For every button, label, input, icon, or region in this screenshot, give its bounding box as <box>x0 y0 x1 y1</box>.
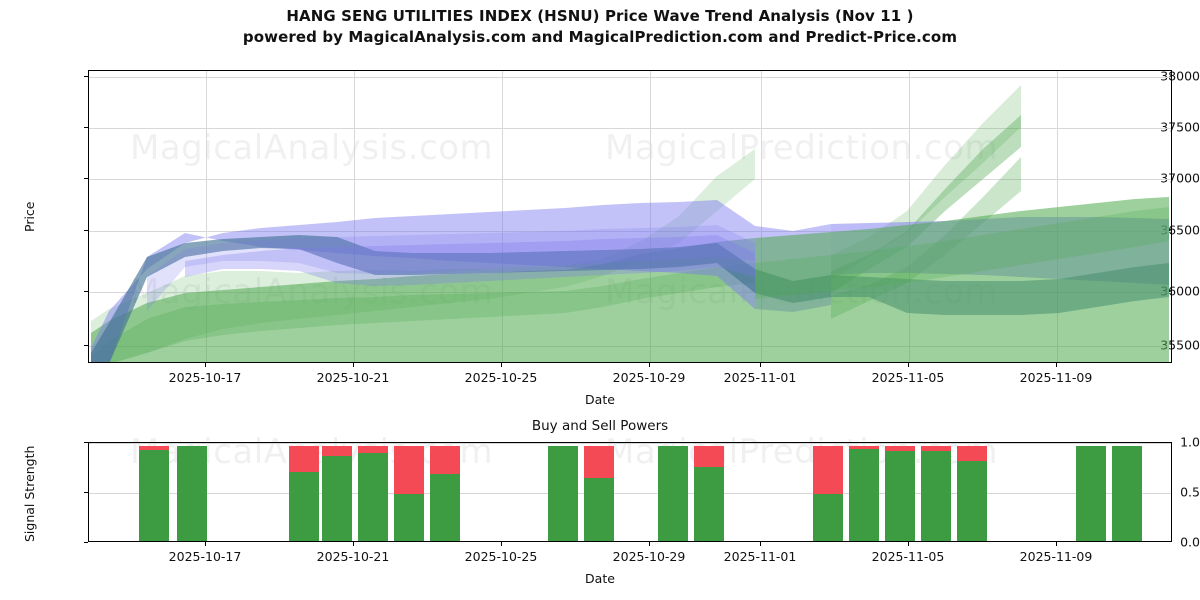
bar-segment-buy[interactable] <box>1112 446 1142 541</box>
bar-segment-sell[interactable] <box>139 446 169 450</box>
x-tick-label: 2025-11-05 <box>872 549 945 564</box>
bar-segment-sell[interactable] <box>430 446 460 475</box>
bar-segment-buy[interactable] <box>957 461 987 541</box>
bar-group[interactable] <box>584 442 614 541</box>
bar-segment-buy[interactable] <box>813 494 843 541</box>
bar-segment-buy[interactable] <box>849 449 879 541</box>
bar-segment-buy[interactable] <box>584 478 614 541</box>
x-tick-mark <box>760 542 761 546</box>
x-tick-mark <box>1056 542 1057 546</box>
chart-title-block: HANG SENG UTILITIES INDEX (HSNU) Price W… <box>0 6 1200 48</box>
bar-segment-sell[interactable] <box>694 446 724 467</box>
bar-segment-buy[interactable] <box>694 467 724 541</box>
y-tick-mark <box>84 542 88 543</box>
x-tick-label: 2025-11-01 <box>724 549 797 564</box>
page-title: HANG SENG UTILITIES INDEX (HSNU) Price W… <box>0 6 1200 27</box>
bar-group[interactable] <box>1076 442 1106 541</box>
bar-segment-buy[interactable] <box>885 451 915 541</box>
bar-group[interactable] <box>322 442 352 541</box>
bar-segment-buy[interactable] <box>139 450 169 541</box>
x-tick-mark <box>908 542 909 546</box>
x-tick-mark <box>649 363 650 367</box>
bar-segment-buy[interactable] <box>177 446 207 541</box>
x-tick-mark <box>1056 363 1057 367</box>
x-tick-label: 2025-10-29 <box>613 549 686 564</box>
x-tick-mark <box>353 542 354 546</box>
bar-segment-buy[interactable] <box>394 494 424 541</box>
bar-series-host <box>89 443 1171 541</box>
bar-group[interactable] <box>1112 442 1142 541</box>
x-tick-mark <box>908 363 909 367</box>
price-y-axis-label: Price <box>22 202 37 233</box>
page-subtitle: powered by MagicalAnalysis.com and Magic… <box>0 27 1200 48</box>
bar-segment-buy[interactable] <box>289 472 319 541</box>
bar-group[interactable] <box>849 442 879 541</box>
bar-group[interactable] <box>548 442 578 541</box>
bar-segment-buy[interactable] <box>322 456 352 541</box>
bar-segment-sell[interactable] <box>322 446 352 456</box>
price-plot-area <box>88 70 1172 363</box>
bar-segment-buy[interactable] <box>430 474 460 541</box>
bar-group[interactable] <box>694 442 724 541</box>
bar-group[interactable] <box>658 442 688 541</box>
x-tick-mark <box>353 363 354 367</box>
signal-plot-area <box>88 442 1172 542</box>
x-tick-label: 2025-10-25 <box>465 370 538 385</box>
x-tick-label: 2025-11-09 <box>1020 549 1093 564</box>
bar-segment-sell[interactable] <box>885 446 915 451</box>
bar-group[interactable] <box>289 442 319 541</box>
bar-segment-sell[interactable] <box>289 446 319 473</box>
bar-segment-sell[interactable] <box>921 446 951 451</box>
x-tick-mark <box>501 542 502 546</box>
signal-x-axis-label: Date <box>0 571 1200 586</box>
chart-page: MagicalAnalysis.com MagicalPrediction.co… <box>0 0 1200 600</box>
x-tick-label: 2025-10-17 <box>169 370 242 385</box>
bar-segment-sell[interactable] <box>394 446 424 495</box>
x-tick-label: 2025-10-21 <box>317 370 390 385</box>
bar-segment-buy[interactable] <box>1076 446 1106 541</box>
x-tick-label: 2025-10-17 <box>169 549 242 564</box>
x-tick-mark <box>760 363 761 367</box>
bar-segment-buy[interactable] <box>921 451 951 541</box>
x-tick-label: 2025-10-21 <box>317 549 390 564</box>
bar-group[interactable] <box>957 442 987 541</box>
bar-group[interactable] <box>885 442 915 541</box>
bar-segment-sell[interactable] <box>813 446 843 495</box>
x-tick-label: 2025-11-05 <box>872 370 945 385</box>
bar-segment-buy[interactable] <box>548 446 578 541</box>
bar-group[interactable] <box>177 442 207 541</box>
price-x-axis-label: Date <box>0 392 1200 407</box>
price-wave-bands <box>89 71 1172 363</box>
bar-group[interactable] <box>358 442 388 541</box>
bar-segment-sell[interactable] <box>849 446 879 449</box>
bar-segment-buy[interactable] <box>358 453 388 541</box>
x-tick-mark <box>649 542 650 546</box>
x-tick-label: 2025-10-29 <box>613 370 686 385</box>
bar-group[interactable] <box>430 442 460 541</box>
x-tick-mark <box>501 363 502 367</box>
signal-panel-title: Buy and Sell Powers <box>0 418 1200 434</box>
bar-group[interactable] <box>921 442 951 541</box>
x-tick-label: 2025-11-01 <box>724 370 797 385</box>
bar-group[interactable] <box>813 442 843 541</box>
bar-segment-sell[interactable] <box>957 446 987 461</box>
signal-y-axis-label: Signal Strength <box>22 446 37 542</box>
bar-segment-sell[interactable] <box>584 446 614 478</box>
x-tick-label: 2025-10-25 <box>465 549 538 564</box>
bar-group[interactable] <box>139 442 169 541</box>
x-tick-mark <box>205 542 206 546</box>
bar-segment-sell[interactable] <box>358 446 388 454</box>
bar-group[interactable] <box>394 442 424 541</box>
bar-segment-buy[interactable] <box>658 446 688 541</box>
x-tick-label: 2025-11-09 <box>1020 370 1093 385</box>
x-tick-mark <box>205 363 206 367</box>
